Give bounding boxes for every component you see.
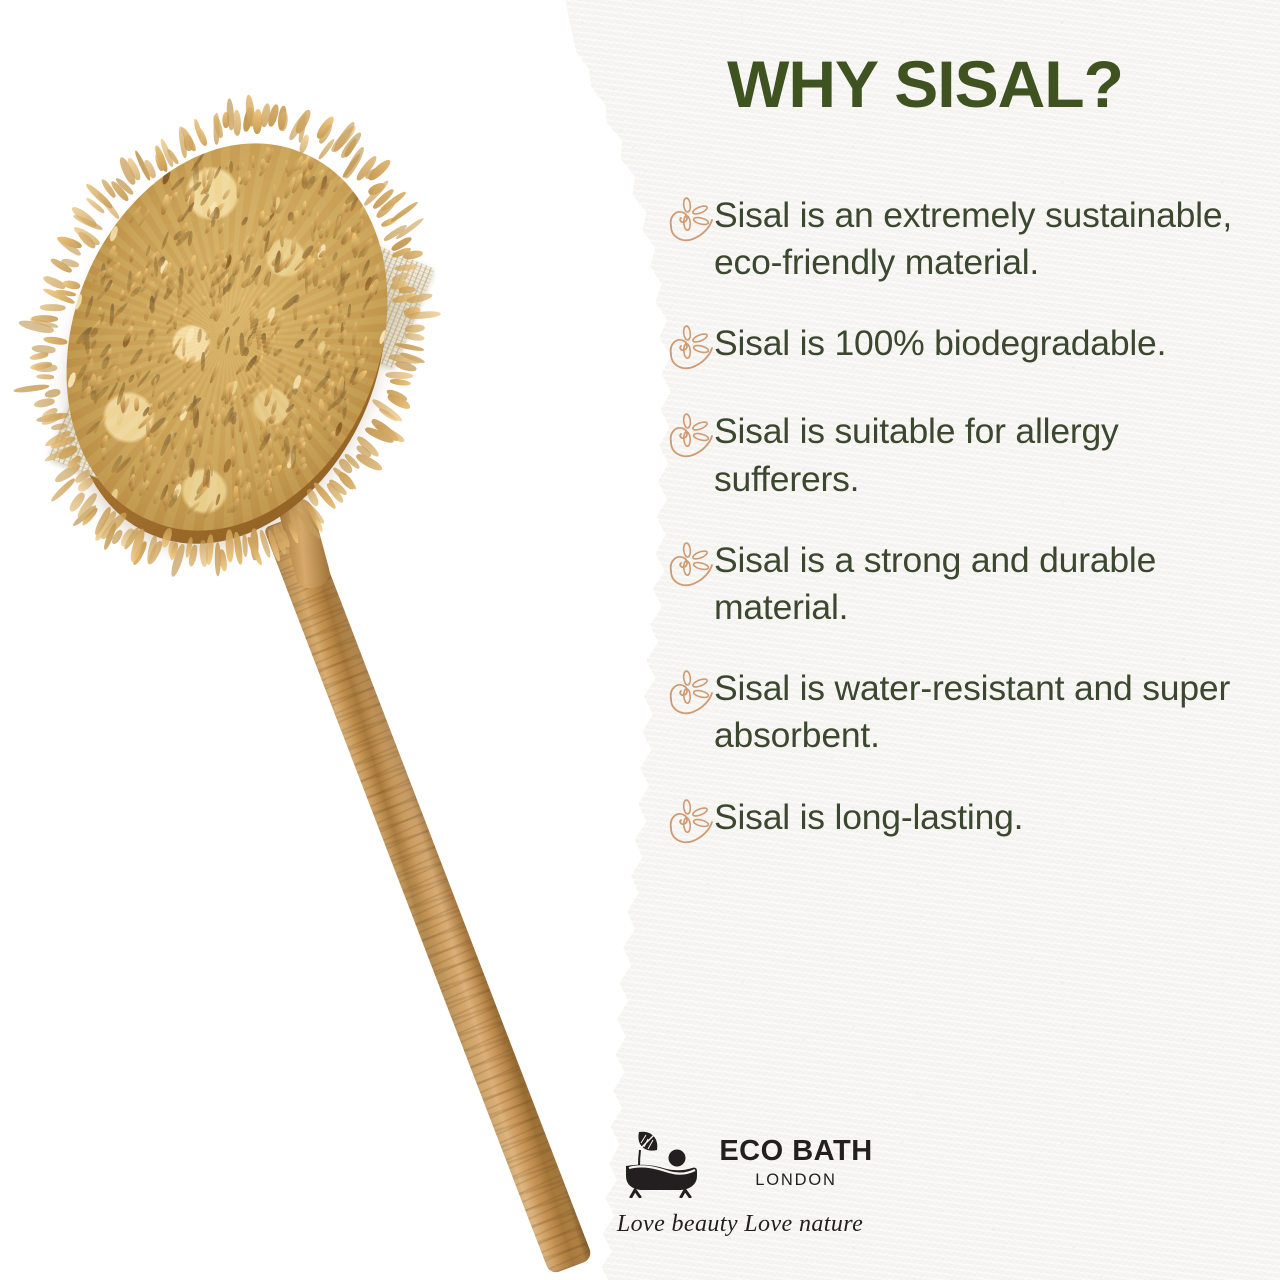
sprout-icon [666, 324, 718, 374]
list-item: Sisal is suitable for allergy sufferers. [668, 408, 1268, 502]
brand-logo: ECO BATH LONDON Love beauty Love nature [0, 1128, 1280, 1238]
list-item: Sisal is a strong and durable material. [668, 537, 1268, 631]
list-item-label: Sisal is water-resistant and super absor… [714, 665, 1254, 759]
poster-canvas: WHY SISAL? Sisal is an extremely sustain… [0, 0, 1280, 1280]
benefits-list: Sisal is an extremely sustainable, eco-f… [668, 192, 1268, 848]
bathtub-with-leaf-icon [617, 1128, 705, 1198]
list-item: Sisal is an extremely sustainable, eco-f… [668, 192, 1268, 286]
list-item: Sisal is long-lasting. [668, 794, 1268, 848]
list-item: Sisal is 100% biodegradable. [668, 320, 1268, 374]
sprout-icon [666, 196, 718, 246]
list-item-label: Sisal is long-lasting. [714, 794, 1023, 841]
logo-brand-location: LONDON [755, 1171, 836, 1190]
logo-row: ECO BATH LONDON [617, 1128, 872, 1198]
list-item-label: Sisal is a strong and durable material. [714, 537, 1254, 631]
sprout-icon [666, 669, 718, 719]
page-title: WHY SISAL? [625, 50, 1225, 119]
logo-brand-name: ECO BATH [719, 1137, 872, 1166]
logo-wordmark: ECO BATH LONDON [719, 1137, 872, 1190]
list-item-label: Sisal is suitable for allergy sufferers. [714, 408, 1254, 502]
list-item: Sisal is water-resistant and super absor… [668, 665, 1268, 759]
sprout-icon [666, 541, 718, 591]
content-layer: WHY SISAL? Sisal is an extremely sustain… [0, 0, 1280, 1280]
list-item-label: Sisal is an extremely sustainable, eco-f… [714, 192, 1254, 286]
sprout-icon [666, 798, 718, 848]
list-item-label: Sisal is 100% biodegradable. [714, 320, 1166, 367]
logo-tagline: Love beauty Love nature [617, 1211, 863, 1238]
sprout-icon [666, 412, 718, 462]
